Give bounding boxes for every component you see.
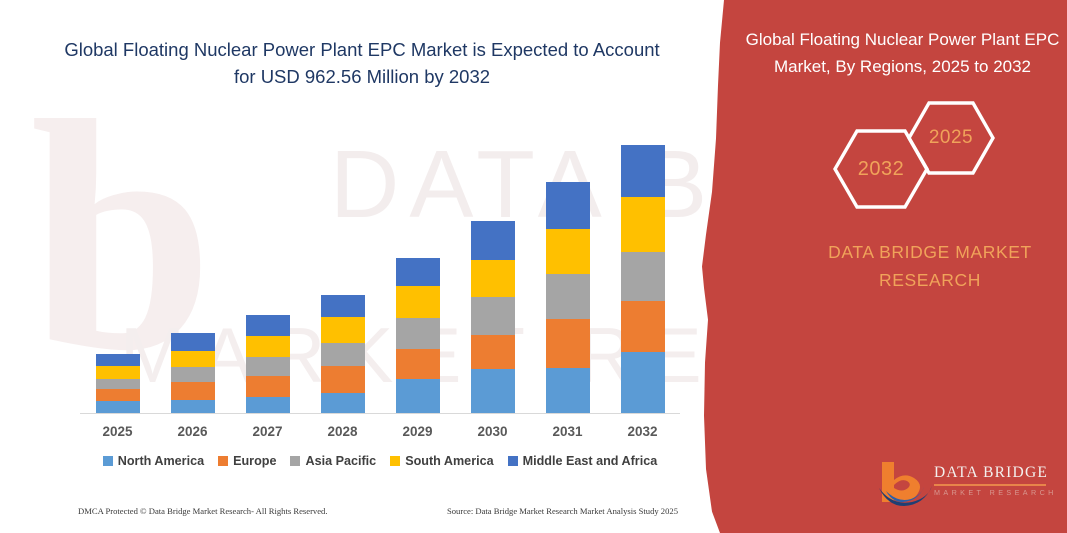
- legend-swatch-icon: [390, 456, 400, 466]
- x-axis-label-2031: 2031: [533, 424, 603, 439]
- legend-label: Europe: [233, 454, 276, 468]
- hexagon-far-year-label: 2032: [858, 158, 905, 181]
- data-bridge-b-icon: [878, 458, 934, 508]
- bar-segment-middle-east-and-africa: [621, 145, 665, 198]
- x-axis-label-2030: 2030: [458, 424, 528, 439]
- legend-label: South America: [405, 454, 493, 468]
- x-axis-label-2029: 2029: [383, 424, 453, 439]
- bar-segment-south-america: [321, 317, 365, 343]
- x-axis-label-2032: 2032: [608, 424, 678, 439]
- logo-name: DATA BRIDGE: [934, 464, 1057, 482]
- legend-item-middle-east-and-africa[interactable]: Middle East and Africa: [508, 454, 658, 468]
- chart-title: Global Floating Nuclear Power Plant EPC …: [62, 36, 662, 90]
- bar-segment-north-america: [321, 393, 365, 413]
- bar-segment-europe: [471, 335, 515, 369]
- legend-item-asia-pacific[interactable]: Asia Pacific: [290, 454, 376, 468]
- bar-segment-europe: [621, 301, 665, 352]
- bar-segment-europe: [246, 376, 290, 398]
- bar-segment-north-america: [546, 368, 590, 413]
- bar-2028: [321, 295, 365, 413]
- legend-label: North America: [118, 454, 204, 468]
- x-axis-label-2025: 2025: [83, 424, 153, 439]
- bar-segment-north-america: [96, 401, 140, 413]
- bar-2030: [471, 221, 515, 413]
- logo-subtitle: MARKET RESEARCH: [934, 488, 1057, 497]
- legend-label: Middle East and Africa: [523, 454, 658, 468]
- bar-segment-asia-pacific: [96, 379, 140, 389]
- footer: DMCA Protected © Data Bridge Market Rese…: [78, 506, 678, 516]
- bar-segment-asia-pacific: [546, 274, 590, 319]
- legend-item-europe[interactable]: Europe: [218, 454, 276, 468]
- legend-item-south-america[interactable]: South America: [390, 454, 493, 468]
- bar-segment-europe: [546, 319, 590, 368]
- bar-segment-asia-pacific: [171, 367, 215, 382]
- bar-2026: [171, 333, 215, 413]
- legend-swatch-icon: [290, 456, 300, 466]
- x-axis-line: [80, 413, 680, 414]
- bar-2025: [96, 354, 140, 413]
- bar-segment-middle-east-and-africa: [471, 221, 515, 260]
- bar-segment-north-america: [246, 397, 290, 413]
- bar-segment-middle-east-and-africa: [246, 315, 290, 336]
- infographic-root: b DATA BRIDGE MARKET RESEARCH Global Flo…: [0, 0, 1067, 533]
- bar-segment-south-america: [621, 197, 665, 252]
- bar-segment-south-america: [396, 286, 440, 318]
- right-panel-title: Global Floating Nuclear Power Plant EPC …: [745, 26, 1060, 80]
- bar-2029: [396, 258, 440, 413]
- legend-swatch-icon: [103, 456, 113, 466]
- chart-legend: North AmericaEuropeAsia PacificSouth Ame…: [80, 454, 680, 468]
- data-bridge-logo: DATA BRIDGE MARKET RESEARCH: [878, 458, 1058, 510]
- logo-divider: [934, 484, 1046, 486]
- footer-copyright: DMCA Protected © Data Bridge Market Rese…: [78, 506, 328, 516]
- legend-item-north-america[interactable]: North America: [103, 454, 204, 468]
- bar-segment-middle-east-and-africa: [96, 354, 140, 366]
- x-axis-label-2027: 2027: [233, 424, 303, 439]
- bar-segment-middle-east-and-africa: [396, 258, 440, 285]
- x-axis-label-2028: 2028: [308, 424, 378, 439]
- bar-segment-middle-east-and-africa: [546, 182, 590, 229]
- bar-segment-europe: [96, 389, 140, 402]
- bar-segment-north-america: [171, 400, 215, 413]
- bar-segment-south-america: [246, 336, 290, 358]
- bar-2031: [546, 182, 590, 413]
- bar-segment-asia-pacific: [321, 343, 365, 366]
- bar-segment-europe: [171, 382, 215, 401]
- bar-segment-middle-east-and-africa: [321, 295, 365, 317]
- bar-segment-europe: [396, 349, 440, 378]
- bar-segment-south-america: [171, 351, 215, 367]
- bar-segment-south-america: [546, 229, 590, 274]
- bar-2032: [621, 144, 665, 413]
- bar-segment-north-america: [396, 379, 440, 413]
- bar-segment-asia-pacific: [621, 252, 665, 301]
- hexagon-badge-near-year: 2025: [906, 100, 996, 176]
- x-axis-label-2026: 2026: [158, 424, 228, 439]
- hexagon-near-year-label: 2025: [929, 127, 973, 149]
- bar-segment-middle-east-and-africa: [171, 333, 215, 352]
- year-hexagon-group: 2032 2025: [820, 98, 1000, 210]
- brand-name: DATA BRIDGE MARKET RESEARCH: [790, 238, 1067, 294]
- bar-segment-north-america: [471, 369, 515, 413]
- legend-label: Asia Pacific: [305, 454, 376, 468]
- logo-wordmark: DATA BRIDGE MARKET RESEARCH: [934, 464, 1057, 497]
- bar-segment-asia-pacific: [396, 318, 440, 349]
- bar-segment-europe: [321, 366, 365, 393]
- legend-swatch-icon: [508, 456, 518, 466]
- bar-segment-south-america: [96, 366, 140, 379]
- stacked-bar-chart: [80, 120, 680, 414]
- bar-segment-asia-pacific: [246, 357, 290, 376]
- x-axis-labels: 20252026202720282029203020312032: [80, 424, 680, 444]
- bar-segment-north-america: [621, 352, 665, 413]
- bar-segment-asia-pacific: [471, 297, 515, 334]
- bar-segment-south-america: [471, 260, 515, 297]
- legend-swatch-icon: [218, 456, 228, 466]
- bar-2027: [246, 315, 290, 413]
- footer-source: Source: Data Bridge Market Research Mark…: [447, 506, 678, 516]
